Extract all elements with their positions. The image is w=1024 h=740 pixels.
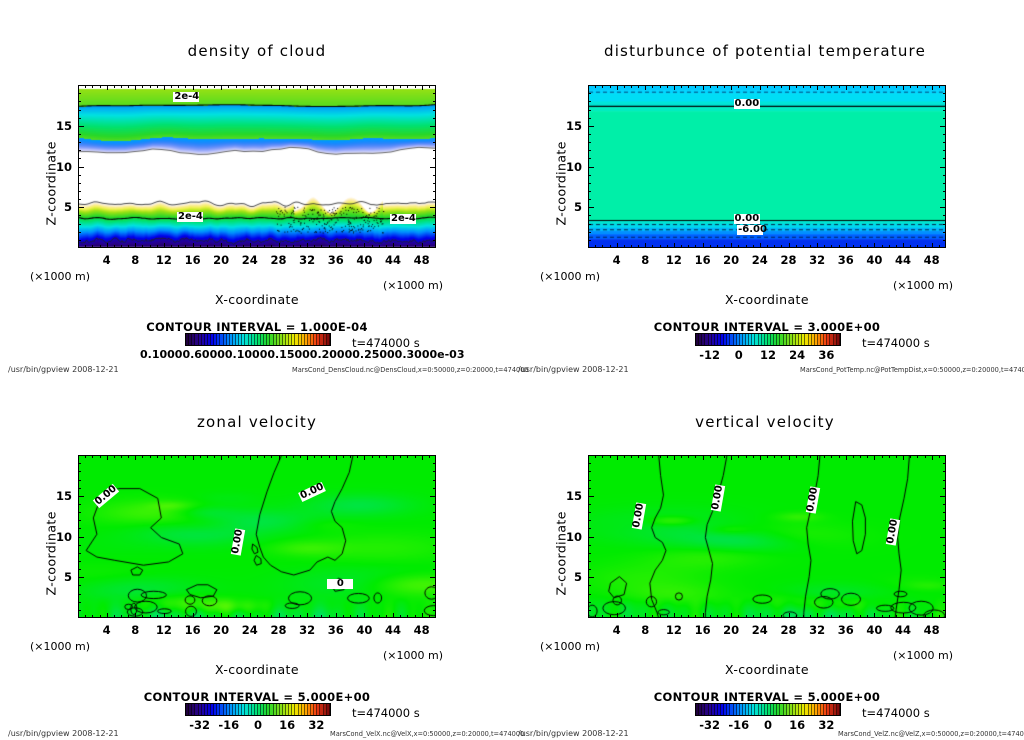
- y-tick-label: 5: [558, 570, 582, 584]
- colorbar-tick-label: 0: [242, 718, 274, 732]
- x-tick-mark: [364, 243, 365, 248]
- x-tick-mark: [157, 615, 158, 618]
- x-tick-mark-top: [638, 455, 639, 458]
- y-tick-label: 10: [558, 160, 582, 174]
- x-tick-mark-top: [314, 455, 315, 458]
- x-tick-mark: [400, 245, 401, 248]
- x-tick-mark-top: [329, 85, 330, 88]
- x-tick-mark: [624, 615, 625, 618]
- x-tick-mark-top: [746, 85, 747, 88]
- y-tick-mark-right: [943, 232, 946, 233]
- x-tick-mark-top: [674, 455, 675, 460]
- x-tick-mark-top: [917, 455, 918, 458]
- x-tick-mark: [746, 615, 747, 618]
- x-tick-mark-top: [150, 85, 151, 88]
- x-tick-mark-top: [193, 455, 194, 460]
- y-tick-mark: [588, 199, 591, 200]
- y-tick-mark-right: [943, 520, 946, 521]
- x-tick-mark-top: [645, 85, 646, 90]
- x-tick-mark: [767, 245, 768, 248]
- x-tick-label: 36: [322, 623, 350, 637]
- x-tick-mark-top: [774, 85, 775, 88]
- y-tick-mark-right: [943, 191, 946, 192]
- x-tick-label: 36: [322, 253, 350, 267]
- x-tick-mark-top: [300, 85, 301, 88]
- contour-level-label: 2e-4: [177, 212, 203, 222]
- y-axis-unit: (×1000 m): [30, 270, 90, 283]
- y-tick-mark-right: [433, 183, 436, 184]
- x-tick-mark-top: [400, 85, 401, 88]
- y-tick-label: 10: [48, 530, 72, 544]
- x-tick-mark-top: [228, 85, 229, 88]
- colorbar-swatch: [327, 704, 330, 715]
- x-tick-mark: [185, 615, 186, 618]
- y-tick-mark: [588, 158, 591, 159]
- y-tick-mark: [78, 93, 81, 94]
- x-tick-mark: [429, 245, 430, 248]
- x-tick-mark: [286, 615, 287, 618]
- colorbar-tick-label: -32: [694, 718, 726, 732]
- y-tick-mark: [78, 610, 81, 611]
- y-tick-mark: [78, 207, 84, 208]
- x-tick-mark: [142, 615, 143, 618]
- x-tick-mark: [286, 245, 287, 248]
- x-tick-mark-top: [595, 85, 596, 88]
- y-tick-mark: [78, 520, 81, 521]
- x-tick-mark: [307, 613, 308, 618]
- x-tick-mark-top: [185, 455, 186, 458]
- x-tick-mark: [214, 245, 215, 248]
- x-tick-mark: [228, 615, 229, 618]
- x-tick-mark: [803, 245, 804, 248]
- x-tick-mark-top: [781, 85, 782, 88]
- x-tick-mark-top: [817, 85, 818, 90]
- y-tick-mark: [588, 585, 591, 586]
- x-tick-mark-top: [839, 85, 840, 88]
- x-tick-mark: [142, 245, 143, 248]
- contour-interval-label: CONTOUR INTERVAL = 5.000E+00: [588, 690, 946, 704]
- colorbar-zonal[interactable]: [185, 703, 331, 716]
- x-tick-label: 4: [93, 253, 121, 267]
- y-tick-mark-right: [433, 110, 436, 111]
- x-tick-mark-top: [860, 455, 861, 458]
- y-tick-mark-right: [433, 602, 436, 603]
- contour-interval-label: CONTOUR INTERVAL = 3.000E+00: [588, 320, 946, 334]
- plot-area-zonal[interactable]: [78, 455, 436, 618]
- x-tick-mark-top: [379, 85, 380, 88]
- x-tick-mark-top: [824, 455, 825, 458]
- x-tick-mark: [171, 245, 172, 248]
- y-tick-mark-right: [943, 561, 946, 562]
- y-tick-mark-right: [943, 175, 946, 176]
- x-tick-mark: [925, 245, 926, 248]
- y-tick-mark: [78, 110, 81, 111]
- x-tick-mark-top: [372, 85, 373, 88]
- x-tick-mark: [617, 243, 618, 248]
- x-tick-mark: [724, 245, 725, 248]
- x-tick-mark: [250, 243, 251, 248]
- colorbar-tick-label: 0: [723, 348, 755, 362]
- x-tick-label: 44: [889, 623, 917, 637]
- x-tick-mark: [321, 245, 322, 248]
- x-tick-mark-top: [703, 455, 704, 460]
- y-tick-mark-right: [433, 101, 436, 102]
- y-tick-mark-right: [433, 158, 436, 159]
- x-tick-mark-top: [422, 85, 423, 90]
- x-tick-mark-top: [710, 85, 711, 88]
- x-tick-mark: [314, 615, 315, 618]
- colorbar-swatch: [327, 334, 330, 345]
- x-tick-label: 20: [717, 253, 745, 267]
- y-tick-mark: [78, 240, 81, 241]
- y-tick-mark-right: [433, 150, 436, 151]
- y-tick-mark-right: [940, 167, 946, 168]
- x-tick-mark-top: [135, 455, 136, 460]
- x-tick-mark-top: [200, 455, 201, 458]
- y-tick-mark-right: [943, 142, 946, 143]
- x-axis-unit: (×1000 m): [893, 649, 953, 662]
- x-tick-mark: [839, 245, 840, 248]
- y-tick-mark: [78, 577, 84, 578]
- x-tick-mark: [193, 613, 194, 618]
- y-tick-mark: [78, 504, 81, 505]
- x-tick-mark: [867, 245, 868, 248]
- y-tick-mark-right: [943, 512, 946, 513]
- x-tick-mark-top: [264, 455, 265, 458]
- x-tick-mark-top: [407, 85, 408, 88]
- y-tick-mark-right: [943, 569, 946, 570]
- x-tick-mark: [710, 615, 711, 618]
- x-tick-mark: [400, 615, 401, 618]
- x-tick-mark: [422, 613, 423, 618]
- y-tick-mark-right: [943, 134, 946, 135]
- contour-level-label: -6.00: [737, 225, 763, 235]
- x-tick-mark: [257, 615, 258, 618]
- x-tick-mark-top: [874, 85, 875, 90]
- x-tick-mark-top: [867, 85, 868, 88]
- x-tick-mark: [121, 245, 122, 248]
- x-tick-mark-top: [164, 455, 165, 460]
- x-tick-mark: [300, 615, 301, 618]
- y-tick-mark-right: [430, 207, 436, 208]
- y-tick-mark: [78, 142, 81, 143]
- x-tick-mark-top: [595, 455, 596, 458]
- x-tick-mark: [810, 245, 811, 248]
- x-tick-mark: [221, 243, 222, 248]
- x-tick-mark: [781, 615, 782, 618]
- source-footer: MarsCond_VelX.nc@VelX,x=0:50000,z=0:2000…: [330, 730, 524, 738]
- x-tick-mark-top: [717, 455, 718, 458]
- x-tick-mark-top: [860, 85, 861, 88]
- y-tick-label: 15: [558, 489, 582, 503]
- x-tick-mark-top: [286, 455, 287, 458]
- x-tick-mark-top: [214, 455, 215, 458]
- x-tick-mark: [193, 243, 194, 248]
- x-tick-mark-top: [236, 455, 237, 458]
- y-axis-unit: (×1000 m): [540, 270, 600, 283]
- x-tick-label: 32: [803, 623, 831, 637]
- x-tick-mark: [652, 245, 653, 248]
- x-tick-mark: [688, 245, 689, 248]
- y-tick-mark-right: [943, 101, 946, 102]
- x-tick-mark: [631, 615, 632, 618]
- x-tick-mark: [200, 615, 201, 618]
- contour-level-label: 2e-4: [390, 214, 416, 224]
- x-tick-mark-top: [257, 455, 258, 458]
- y-tick-mark: [78, 199, 81, 200]
- x-tick-mark-top: [243, 85, 244, 88]
- x-tick-mark: [695, 615, 696, 618]
- y-tick-mark-right: [430, 126, 436, 127]
- x-tick-mark: [882, 615, 883, 618]
- x-tick-mark-top: [422, 455, 423, 460]
- x-tick-mark: [207, 245, 208, 248]
- x-tick-mark: [350, 245, 351, 248]
- y-tick-mark: [78, 126, 84, 127]
- x-tick-mark-top: [85, 455, 86, 458]
- x-tick-mark-top: [660, 85, 661, 88]
- x-tick-mark: [853, 245, 854, 248]
- y-tick-mark: [588, 134, 591, 135]
- x-tick-mark: [910, 245, 911, 248]
- x-tick-mark: [364, 613, 365, 618]
- x-tick-mark-top: [781, 455, 782, 458]
- x-tick-mark: [910, 615, 911, 618]
- x-tick-mark: [150, 245, 151, 248]
- y-tick-mark: [588, 561, 591, 562]
- x-tick-mark: [738, 245, 739, 248]
- x-tick-mark: [610, 615, 611, 618]
- x-tick-mark: [329, 245, 330, 248]
- colorbar-tick-label: 0: [752, 718, 784, 732]
- y-tick-mark: [78, 602, 81, 603]
- x-tick-mark-top: [695, 455, 696, 458]
- y-tick-mark: [588, 142, 591, 143]
- y-tick-mark: [588, 232, 591, 233]
- colorbar-tick-label: -32: [184, 718, 216, 732]
- x-tick-mark-top: [695, 85, 696, 88]
- y-tick-mark-right: [430, 496, 436, 497]
- x-tick-mark: [824, 245, 825, 248]
- x-tick-mark: [107, 613, 108, 618]
- x-tick-mark: [638, 615, 639, 618]
- x-tick-mark: [595, 245, 596, 248]
- x-tick-mark: [264, 245, 265, 248]
- y-tick-mark: [588, 545, 591, 546]
- x-tick-label: 24: [746, 623, 774, 637]
- x-tick-label: 28: [775, 623, 803, 637]
- x-tick-mark-top: [379, 455, 380, 458]
- x-tick-mark: [85, 615, 86, 618]
- y-tick-mark-right: [433, 93, 436, 94]
- y-tick-mark-right: [943, 199, 946, 200]
- x-tick-mark-top: [250, 85, 251, 90]
- page-title: zonal velocity: [78, 413, 436, 431]
- x-tick-label: 48: [408, 623, 436, 637]
- x-tick-mark: [429, 615, 430, 618]
- y-tick-mark: [588, 126, 594, 127]
- x-tick-mark-top: [667, 85, 668, 88]
- y-tick-mark-right: [943, 545, 946, 546]
- x-tick-mark-top: [321, 85, 322, 88]
- x-tick-mark: [703, 243, 704, 248]
- y-tick-mark: [588, 215, 591, 216]
- x-tick-label: 36: [832, 253, 860, 267]
- x-tick-mark: [817, 613, 818, 618]
- y-tick-mark: [78, 158, 81, 159]
- x-tick-mark: [774, 615, 775, 618]
- y-tick-mark-right: [943, 488, 946, 489]
- y-tick-mark-right: [943, 594, 946, 595]
- x-tick-mark: [372, 615, 373, 618]
- x-tick-mark-top: [882, 455, 883, 458]
- x-axis-label: X-coordinate: [588, 662, 946, 677]
- x-tick-mark: [386, 245, 387, 248]
- x-tick-mark: [874, 613, 875, 618]
- x-tick-mark: [917, 615, 918, 618]
- contour-level-label: 0.00: [734, 99, 760, 109]
- x-tick-label: 8: [121, 623, 149, 637]
- x-tick-mark-top: [688, 85, 689, 88]
- x-tick-mark: [178, 245, 179, 248]
- x-tick-label: 8: [631, 623, 659, 637]
- x-tick-mark-top: [307, 455, 308, 460]
- x-tick-mark: [343, 615, 344, 618]
- y-tick-mark-right: [943, 602, 946, 603]
- colorbar-pottemp[interactable]: [695, 333, 841, 346]
- x-tick-mark: [810, 615, 811, 618]
- x-tick-label: 12: [150, 253, 178, 267]
- x-tick-mark-top: [343, 455, 344, 458]
- colorbar-tick-label: 16: [271, 718, 303, 732]
- x-tick-mark-top: [939, 455, 940, 458]
- y-tick-mark: [78, 134, 81, 135]
- x-tick-mark: [357, 245, 358, 248]
- x-tick-label: 28: [265, 253, 293, 267]
- x-tick-mark: [171, 615, 172, 618]
- x-tick-mark-top: [617, 85, 618, 90]
- x-tick-mark: [860, 615, 861, 618]
- x-tick-label: 32: [293, 253, 321, 267]
- x-tick-mark: [874, 243, 875, 248]
- x-tick-mark: [853, 615, 854, 618]
- x-tick-mark-top: [135, 85, 136, 90]
- y-tick-mark-right: [433, 553, 436, 554]
- x-tick-mark-top: [831, 455, 832, 458]
- x-tick-mark: [667, 615, 668, 618]
- x-tick-label: 4: [603, 623, 631, 637]
- x-tick-mark-top: [717, 85, 718, 88]
- x-tick-mark: [92, 615, 93, 618]
- x-tick-mark: [114, 245, 115, 248]
- x-axis-unit: (×1000 m): [893, 279, 953, 292]
- x-tick-mark: [243, 245, 244, 248]
- x-tick-mark: [753, 245, 754, 248]
- y-axis-unit: (×1000 m): [30, 640, 90, 653]
- x-tick-mark: [393, 243, 394, 248]
- x-tick-mark: [903, 613, 904, 618]
- x-tick-mark-top: [114, 85, 115, 88]
- x-tick-mark: [932, 243, 933, 248]
- source-footer: MarsCond_DensCloud.nc@DensCloud,x=0:5000…: [292, 366, 529, 374]
- x-tick-mark-top: [810, 85, 811, 88]
- x-tick-mark-top: [279, 455, 280, 460]
- x-tick-mark-top: [932, 85, 933, 90]
- y-tick-mark-right: [943, 93, 946, 94]
- y-tick-mark: [78, 537, 84, 538]
- contour-level-label: 2e-4: [173, 92, 199, 102]
- x-tick-mark-top: [171, 455, 172, 458]
- x-tick-mark: [796, 245, 797, 248]
- plot-area-density[interactable]: [78, 85, 436, 248]
- x-tick-mark: [200, 245, 201, 248]
- x-tick-mark: [164, 613, 165, 618]
- x-tick-mark-top: [357, 85, 358, 88]
- x-tick-mark-top: [703, 85, 704, 90]
- x-tick-mark-top: [264, 85, 265, 88]
- x-tick-mark: [831, 615, 832, 618]
- x-tick-mark: [307, 243, 308, 248]
- x-tick-mark-top: [400, 455, 401, 458]
- x-tick-mark: [717, 245, 718, 248]
- colorbar-tick-label: 16: [781, 718, 813, 732]
- x-tick-mark-top: [321, 455, 322, 458]
- x-tick-mark: [336, 613, 337, 618]
- x-tick-mark: [279, 243, 280, 248]
- x-tick-mark-top: [164, 85, 165, 90]
- x-tick-mark: [674, 613, 675, 618]
- x-tick-mark: [789, 243, 790, 248]
- y-tick-mark-right: [430, 577, 436, 578]
- y-tick-mark: [588, 101, 591, 102]
- x-tick-mark-top: [336, 455, 337, 460]
- x-tick-mark: [407, 245, 408, 248]
- x-tick-mark-top: [293, 455, 294, 458]
- x-tick-label: 28: [775, 253, 803, 267]
- x-tick-mark-top: [645, 455, 646, 460]
- y-tick-mark: [588, 569, 591, 570]
- y-tick-mark-right: [943, 471, 946, 472]
- time-label: t=474000 s: [352, 336, 420, 350]
- x-tick-label: 12: [150, 623, 178, 637]
- contour-canvas-zonal: [79, 456, 436, 618]
- x-tick-mark-top: [257, 85, 258, 88]
- page-title: density of cloud: [78, 42, 436, 60]
- x-tick-mark: [236, 615, 237, 618]
- x-tick-mark-top: [393, 85, 394, 90]
- x-tick-mark: [939, 615, 940, 618]
- y-tick-mark: [78, 118, 81, 119]
- y-tick-mark-right: [433, 585, 436, 586]
- x-tick-mark: [343, 245, 344, 248]
- x-tick-mark: [631, 245, 632, 248]
- x-tick-mark-top: [903, 455, 904, 460]
- x-tick-mark: [645, 613, 646, 618]
- y-tick-mark: [588, 512, 591, 513]
- x-tick-mark: [781, 245, 782, 248]
- y-tick-mark: [588, 150, 591, 151]
- contour-canvas-density: [79, 86, 436, 248]
- colorbar-density[interactable]: [185, 333, 331, 346]
- x-tick-mark-top: [925, 85, 926, 88]
- generator-footer: /usr/bin/gpview 2008-12-21: [8, 365, 119, 374]
- x-tick-mark-top: [271, 455, 272, 458]
- colorbar-vertical[interactable]: [695, 703, 841, 716]
- x-tick-mark-top: [610, 455, 611, 458]
- x-tick-mark-top: [917, 85, 918, 88]
- x-tick-mark-top: [803, 85, 804, 88]
- x-tick-label: 48: [918, 253, 946, 267]
